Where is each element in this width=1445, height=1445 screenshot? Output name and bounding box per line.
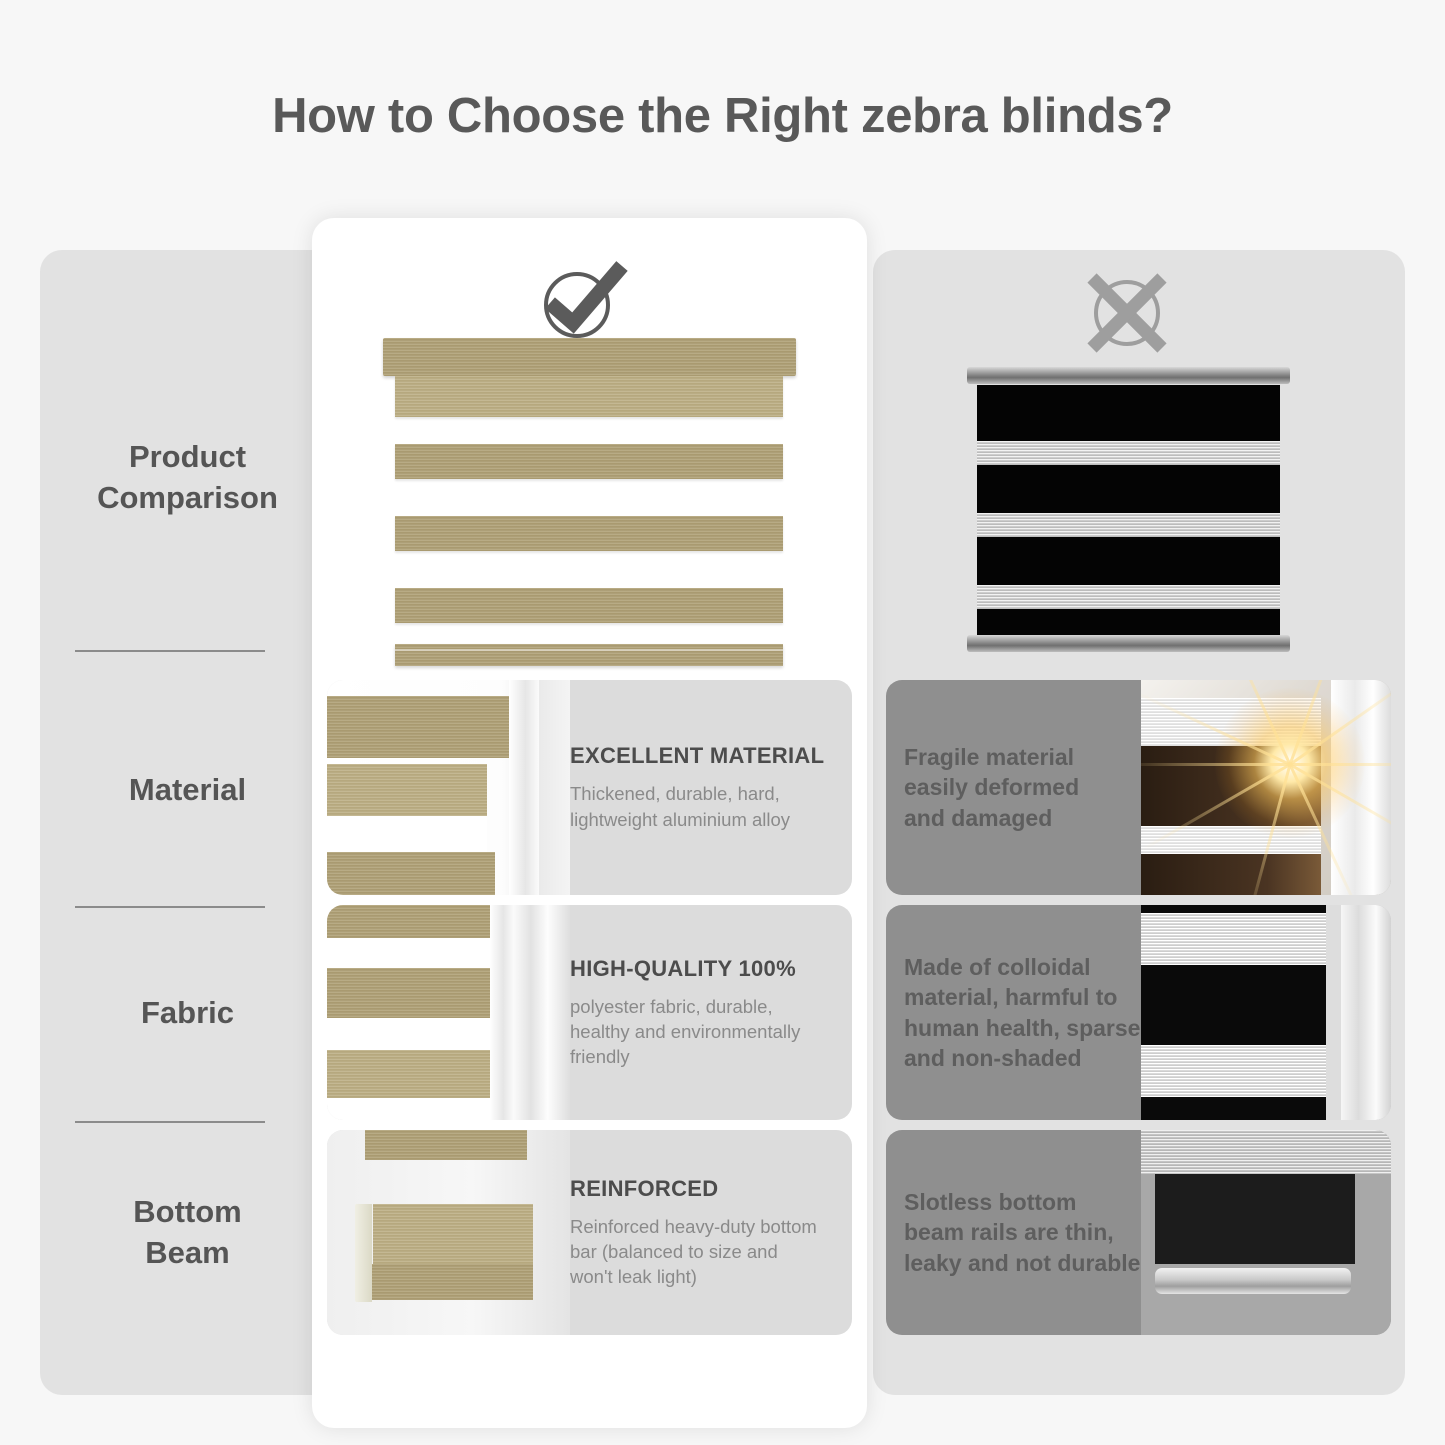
- check-circle-icon: [536, 258, 632, 342]
- row-divider: [75, 906, 265, 908]
- cross-circle-icon: [1084, 272, 1170, 354]
- good-feature-body-bottom-beam: Reinforced heavy-duty bottom bar (balanc…: [570, 1214, 845, 1289]
- good-feature-title-bottom-beam: REINFORCED: [570, 1176, 845, 1202]
- bad-feature-image-fabric: [1141, 905, 1391, 1120]
- row-label-fabric: Fabric: [40, 993, 335, 1034]
- bad-feature-text-material: Fragile material easily deformed and dam…: [904, 742, 1079, 833]
- good-feature-image-material: [327, 680, 570, 895]
- page-title: How to Choose the Right zebra blinds?: [0, 88, 1445, 144]
- row-label-bottom-beam: Bottom Beam: [40, 1192, 335, 1274]
- good-feature-body-material: Thickened, durable, hard, lightweight al…: [570, 781, 845, 831]
- row-divider: [75, 1121, 265, 1123]
- bad-feature-image-material: [1141, 680, 1391, 895]
- row-label-product-comparison: Product Comparison: [40, 437, 335, 519]
- hero-image-wood-zebra-blind: [383, 338, 796, 668]
- bad-feature-text-bottom-beam: Slotless bottom beam rails are thin, lea…: [904, 1187, 1140, 1278]
- good-feature-card-fabric: HIGH-QUALITY 100% polyester fabric, dura…: [327, 905, 852, 1120]
- row-label-material: Material: [40, 770, 335, 811]
- good-feature-body-fabric: polyester fabric, durable, healthy and e…: [570, 994, 845, 1069]
- bad-feature-card-fabric: Made of colloidal material, harmful to h…: [886, 905, 1391, 1120]
- bad-feature-card-material: Fragile material easily deformed and dam…: [886, 680, 1391, 895]
- good-feature-title-fabric: HIGH-QUALITY 100%: [570, 956, 845, 982]
- good-feature-title-material: EXCELLENT MATERIAL: [570, 743, 845, 769]
- good-feature-image-bottom-beam: [327, 1130, 570, 1335]
- bad-feature-image-bottom-beam: [1141, 1130, 1391, 1335]
- good-feature-card-bottom-beam: REINFORCED Reinforced heavy-duty bottom …: [327, 1130, 852, 1335]
- row-divider: [75, 650, 265, 652]
- good-feature-image-fabric: [327, 905, 570, 1120]
- bad-feature-card-bottom-beam: Slotless bottom beam rails are thin, lea…: [886, 1130, 1391, 1335]
- bad-feature-text-fabric: Made of colloidal material, harmful to h…: [904, 952, 1140, 1073]
- hero-image-black-zebra-blind: [967, 367, 1290, 652]
- good-feature-card-material: EXCELLENT MATERIAL Thickened, durable, h…: [327, 680, 852, 895]
